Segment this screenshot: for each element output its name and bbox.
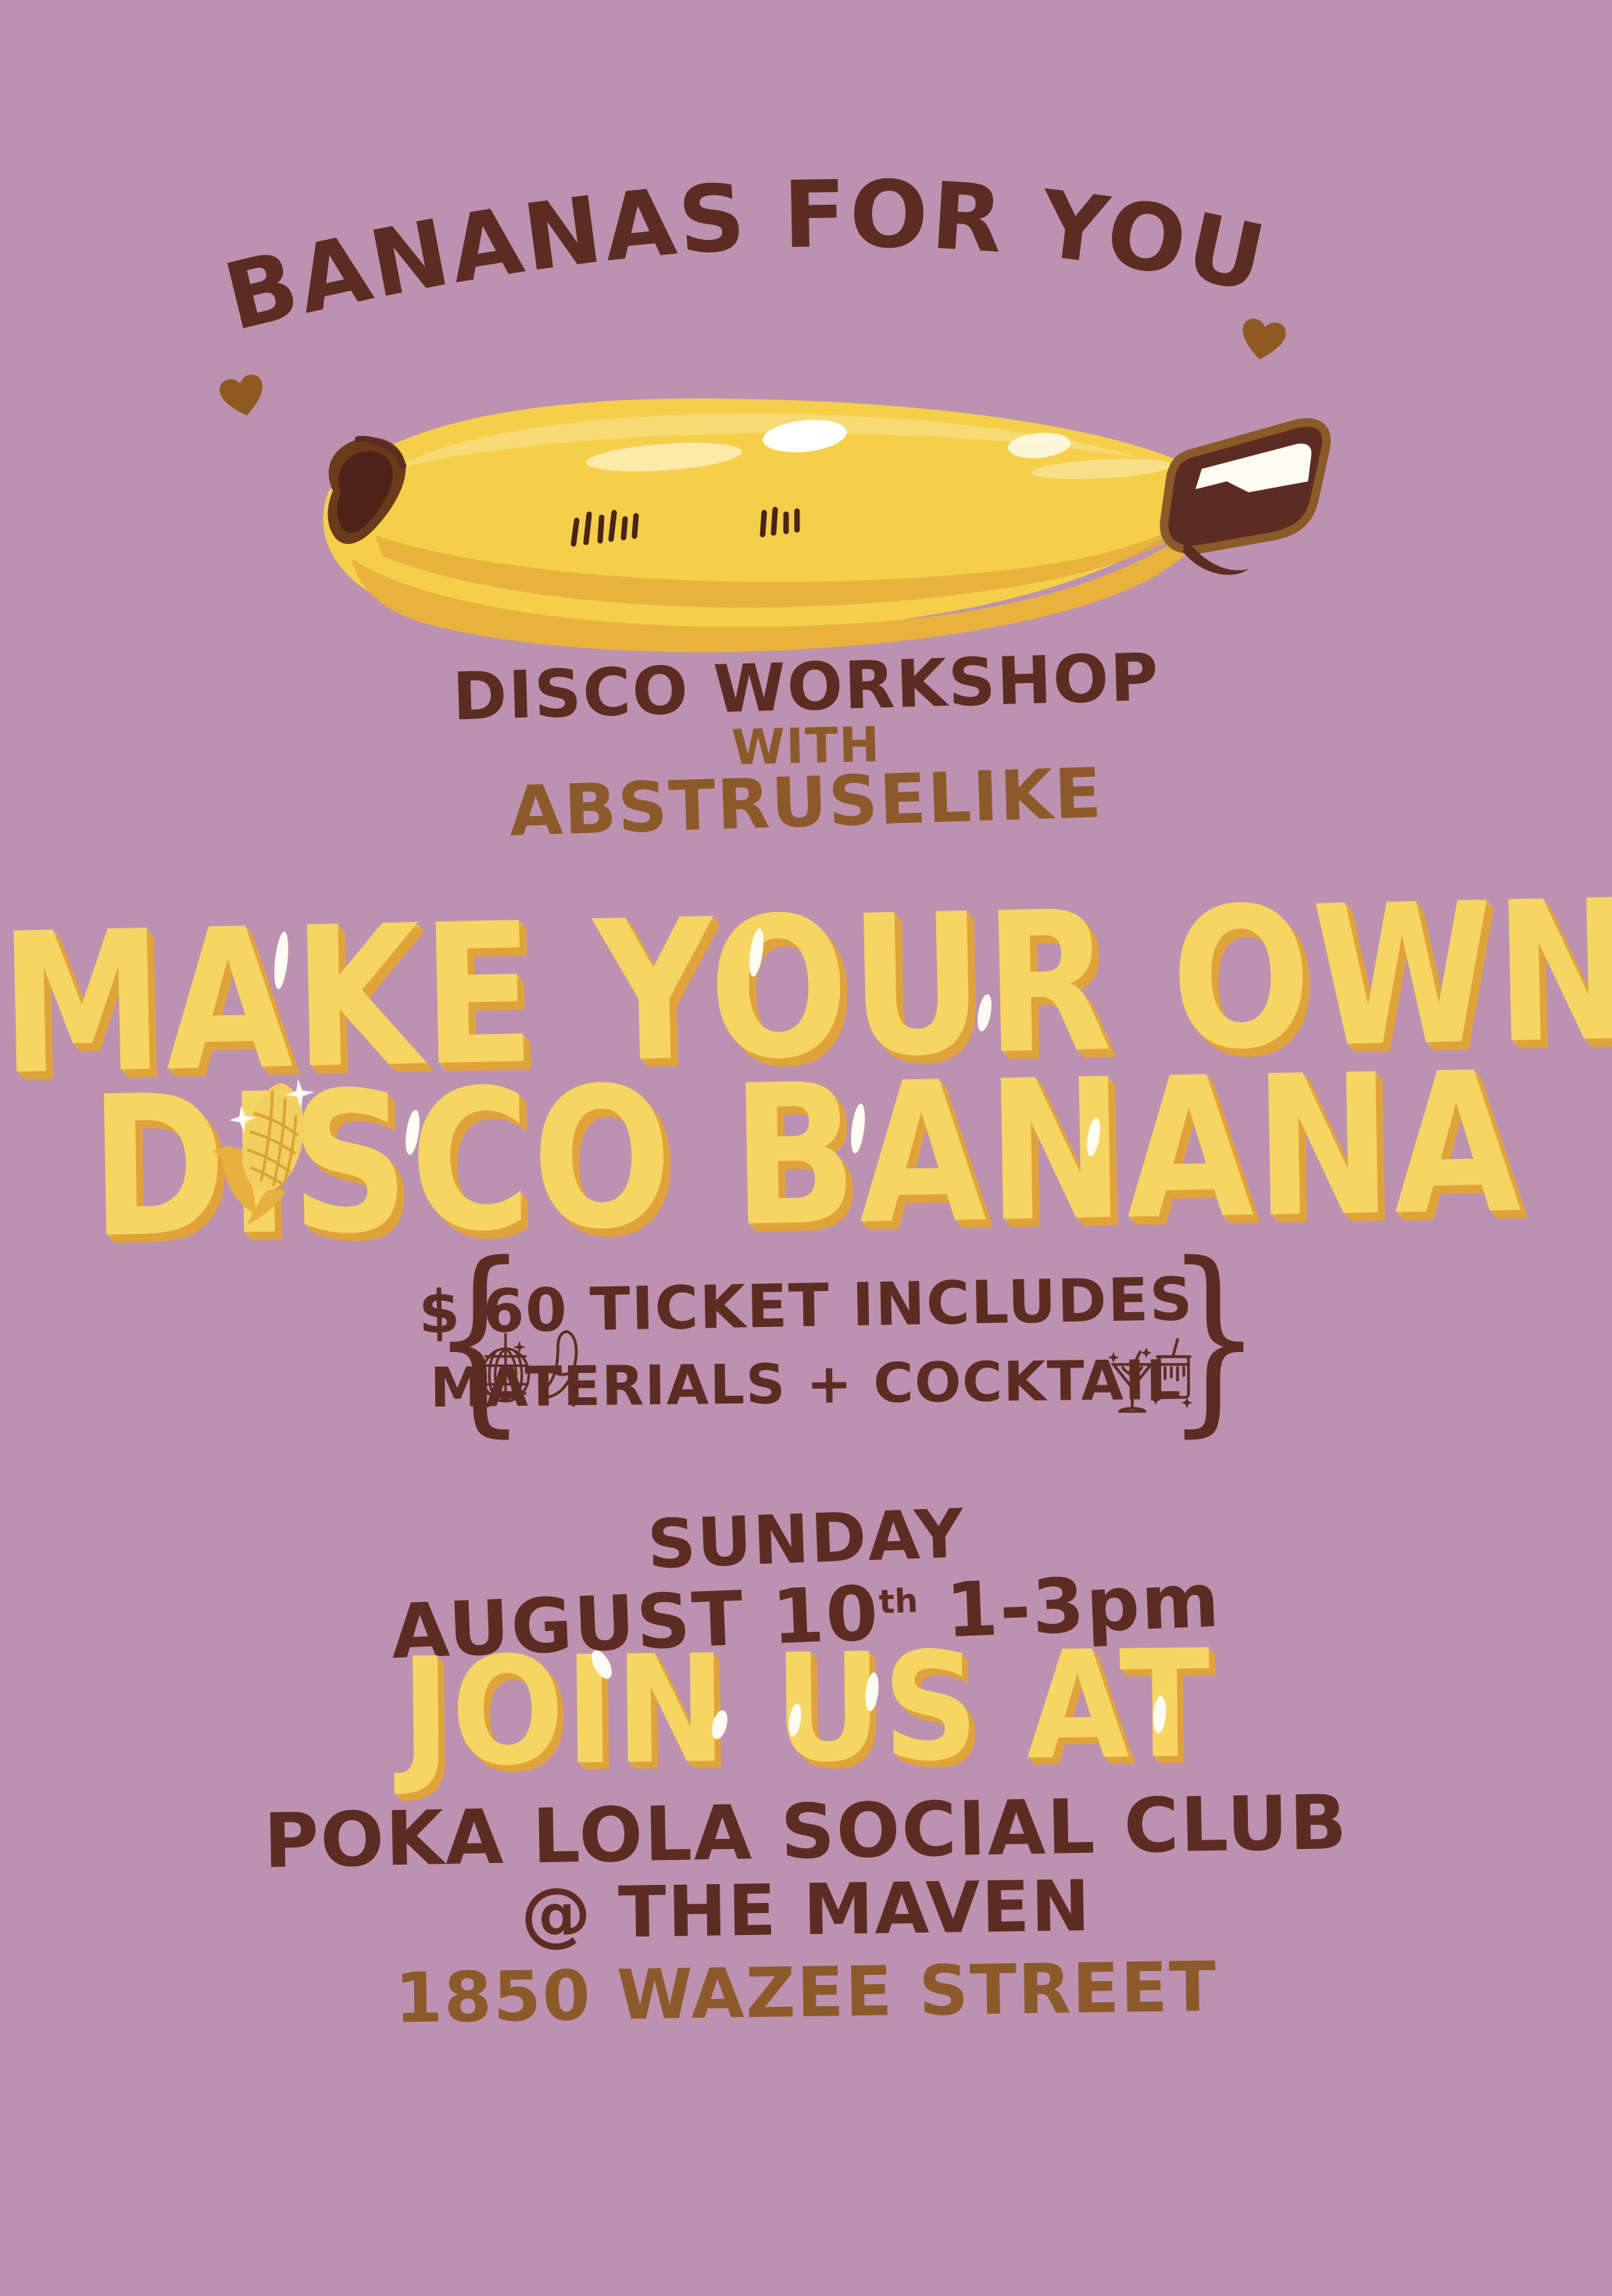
cta-join-us: JOIN US AT bbox=[0, 1614, 1612, 1804]
poster-title-arc: BANANAS FOR YOU bbox=[0, 133, 1612, 336]
poster-canvas: BANANAS FOR YOU bbox=[0, 0, 1612, 2296]
poster-title-text: BANANAS FOR YOU bbox=[215, 160, 1276, 352]
poster-title-block: BANANAS FOR YOU bbox=[0, 133, 1612, 336]
corn-icon bbox=[202, 1065, 358, 1228]
banana-icon bbox=[536, 1329, 583, 1407]
ticket-includes-line: MATERIALS + COCKTAIL bbox=[0, 1343, 1612, 1425]
cocktail-shaker-icon bbox=[1149, 1338, 1197, 1410]
date-ordinal: th bbox=[878, 1582, 919, 1622]
poster-title-value: BANANAS FOR YOU bbox=[215, 160, 1276, 352]
disco-ball-icon bbox=[478, 1333, 533, 1407]
heart-icon bbox=[1238, 317, 1288, 365]
